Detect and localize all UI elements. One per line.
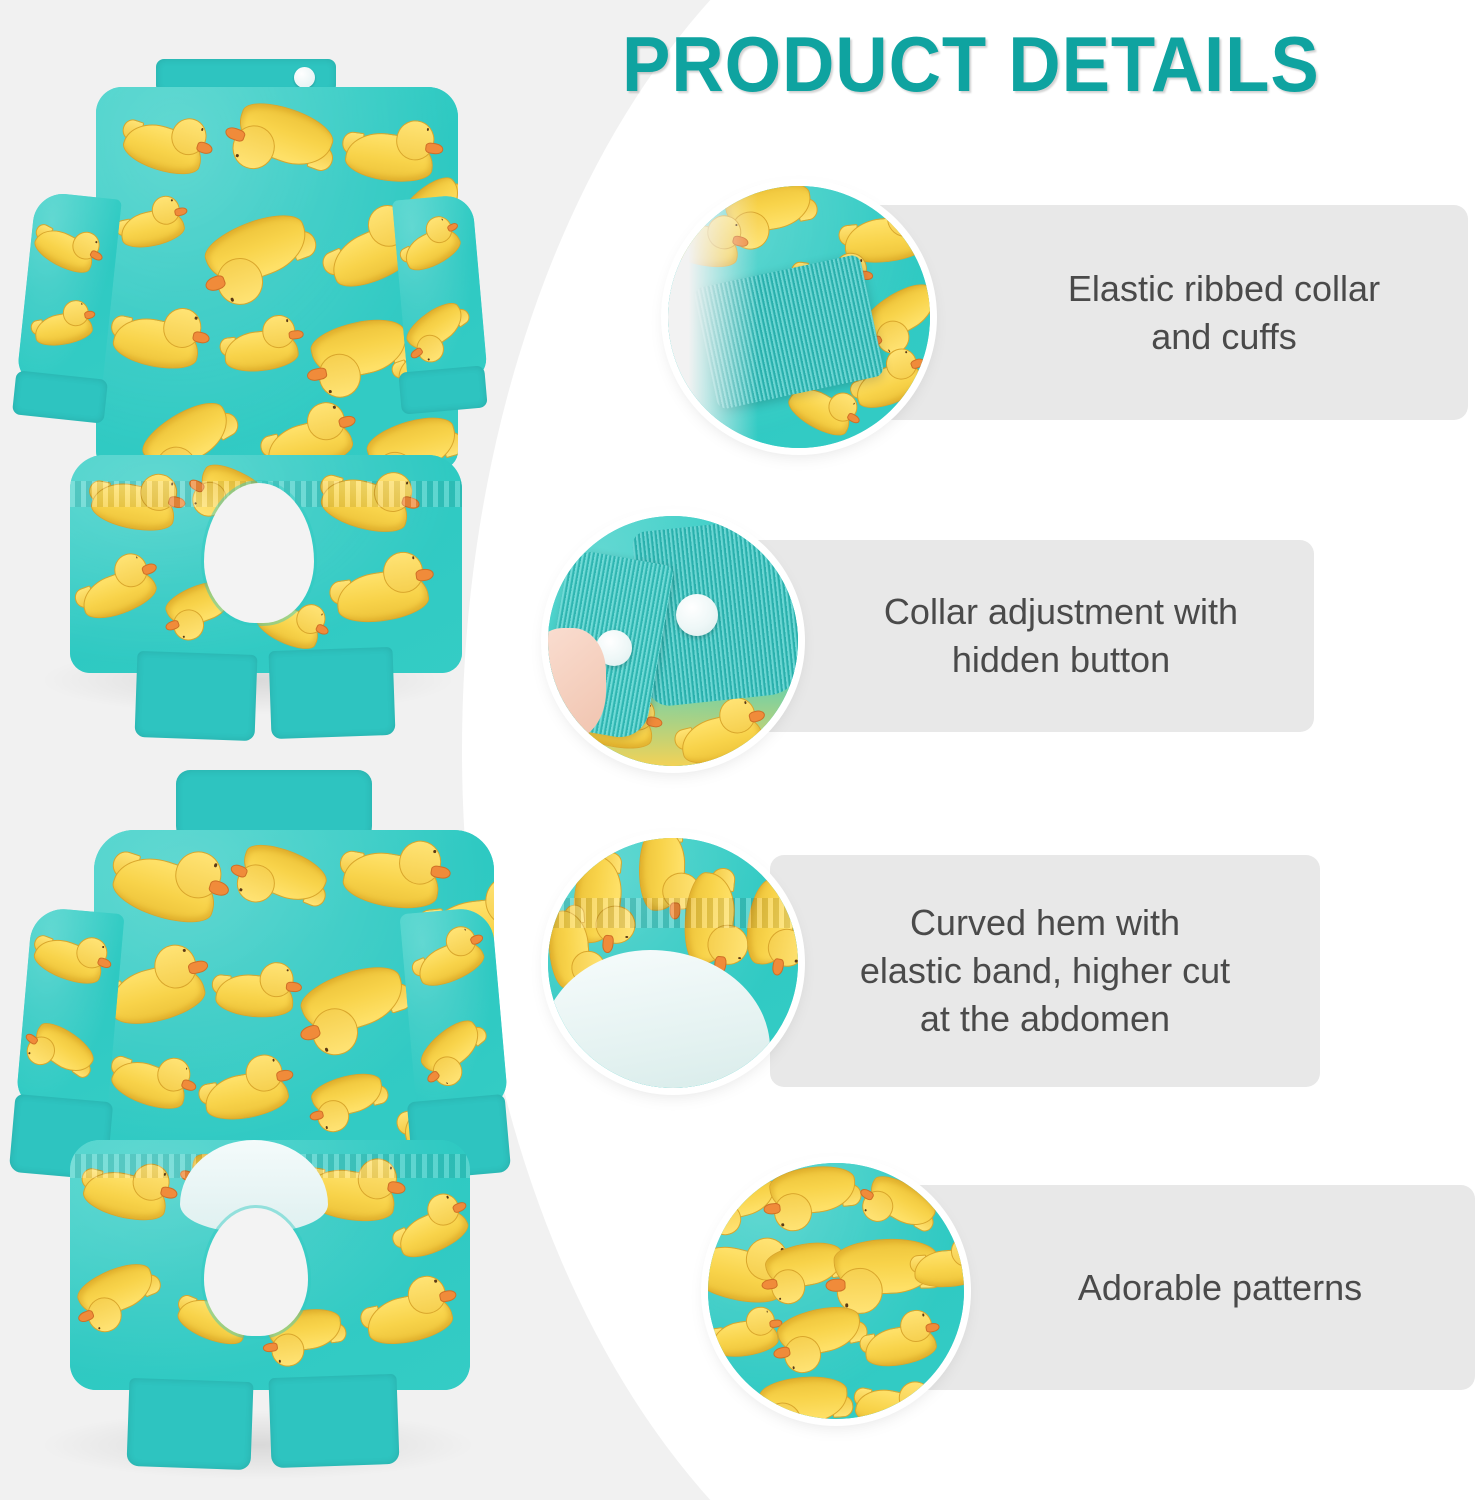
feature-photo-duck-pattern-closeup <box>708 1163 964 1419</box>
feature-text-line: Elastic ribbed collar <box>1068 265 1380 313</box>
feature-text-line: and cuffs <box>1068 313 1380 361</box>
sleeve-cuff-right <box>398 365 487 414</box>
snap-button-icon <box>676 594 718 636</box>
feature-text-line: Adorable patterns <box>1078 1264 1362 1312</box>
feature-text-line: at the abdomen <box>860 995 1230 1043</box>
product-photo-front-view <box>8 760 508 1470</box>
feature-text-line: Collar adjustment with <box>884 588 1238 636</box>
leg-cuff-left-front <box>127 1378 254 1470</box>
product-photo-back-view <box>8 45 478 705</box>
product-details-infographic: PRODUCT DETAILS Elastic ribbed collar an… <box>0 0 1475 1500</box>
leg-cuff-right-front <box>268 1374 399 1468</box>
feature-callout-adorable-patterns: Adorable patterns <box>905 1185 1475 1390</box>
leg-cuff-right <box>269 647 396 739</box>
feature-text-line: hidden button <box>884 636 1238 684</box>
sleeve-right-front <box>399 906 508 1113</box>
feature-text-line: Curved hem with <box>860 899 1230 947</box>
feature-callout-curved-hem-elastic-band: Curved hem with elastic band, higher cut… <box>770 855 1320 1087</box>
feature-photo-curved-hem-closeup <box>548 838 798 1088</box>
feature-photo-ribbed-cuff-closeup <box>668 186 930 448</box>
page-title: PRODUCT DETAILS <box>622 18 1422 110</box>
leg-cuff-left <box>135 651 258 741</box>
snap-button-icon <box>294 67 315 88</box>
feature-photo-collar-snap-button-closeup <box>548 516 798 766</box>
sleeve-left-front <box>15 906 124 1113</box>
feature-callout-elastic-ribbed-collar-and-cuffs: Elastic ribbed collar and cuffs <box>860 205 1468 420</box>
feature-text-line: elastic band, higher cut <box>860 947 1230 995</box>
photo-shadow <box>38 1410 478 1480</box>
sleeve-right <box>392 194 488 386</box>
elastic-band-detail <box>548 898 798 928</box>
sleeve-cuff-left <box>12 370 108 423</box>
